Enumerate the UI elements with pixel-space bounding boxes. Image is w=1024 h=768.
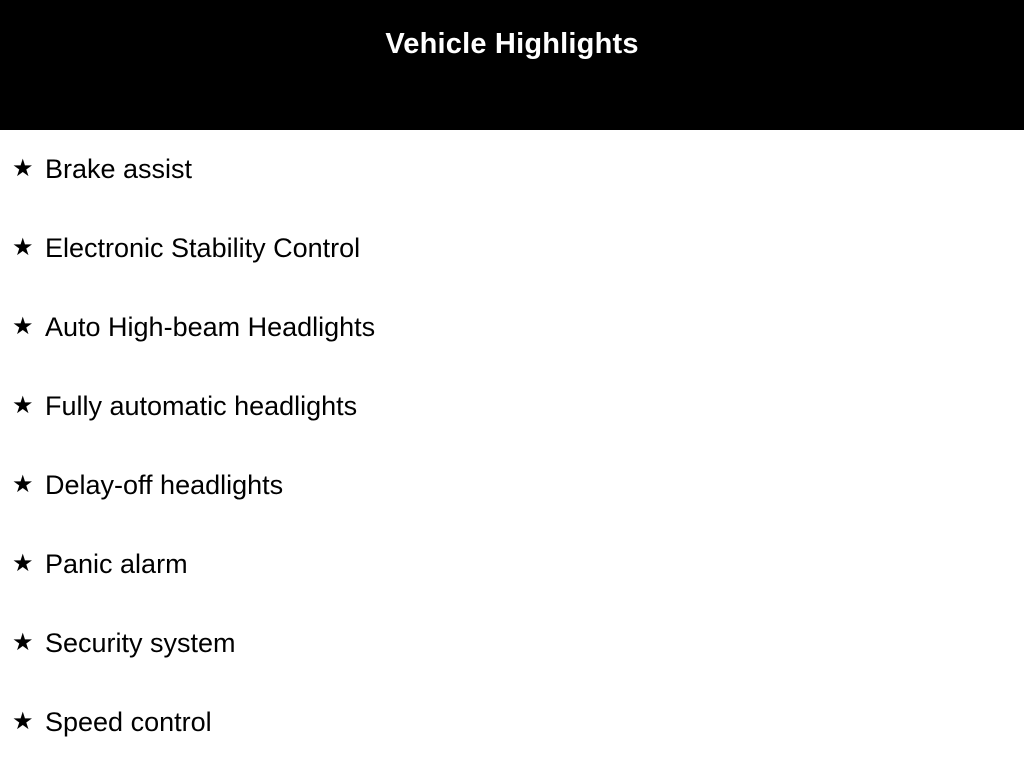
list-item-label: Brake assist — [45, 155, 192, 185]
star-icon: ★ — [12, 631, 34, 655]
star-icon: ★ — [12, 236, 34, 260]
star-icon: ★ — [12, 157, 34, 181]
list-item: ★ Fully automatic headlights — [0, 367, 1024, 446]
star-icon: ★ — [12, 552, 34, 576]
list-item-label: Auto High-beam Headlights — [45, 313, 375, 343]
star-icon: ★ — [12, 315, 34, 339]
list-item: ★ Panic alarm — [0, 525, 1024, 604]
star-icon: ★ — [12, 710, 34, 734]
list-item-label: Fully automatic headlights — [45, 392, 357, 422]
list-item: ★ Security system — [0, 604, 1024, 683]
list-item-label: Delay-off headlights — [45, 471, 283, 501]
vehicle-highlights-page: Vehicle Highlights ★ Brake assist ★ Elec… — [0, 0, 1024, 768]
list-item-label: Electronic Stability Control — [45, 234, 360, 264]
star-icon: ★ — [12, 394, 34, 418]
list-item-label: Panic alarm — [45, 550, 188, 580]
vehicle-highlights-list: ★ Brake assist ★ Electronic Stability Co… — [0, 130, 1024, 762]
page-title: Vehicle Highlights — [0, 0, 1024, 130]
list-item: ★ Delay-off headlights — [0, 446, 1024, 525]
list-item-label: Security system — [45, 629, 236, 659]
star-icon: ★ — [12, 473, 34, 497]
list-item: ★ Auto High-beam Headlights — [0, 288, 1024, 367]
list-item: ★ Electronic Stability Control — [0, 209, 1024, 288]
list-item-label: Speed control — [45, 708, 212, 738]
list-item: ★ Brake assist — [0, 130, 1024, 209]
list-item: ★ Speed control — [0, 683, 1024, 762]
